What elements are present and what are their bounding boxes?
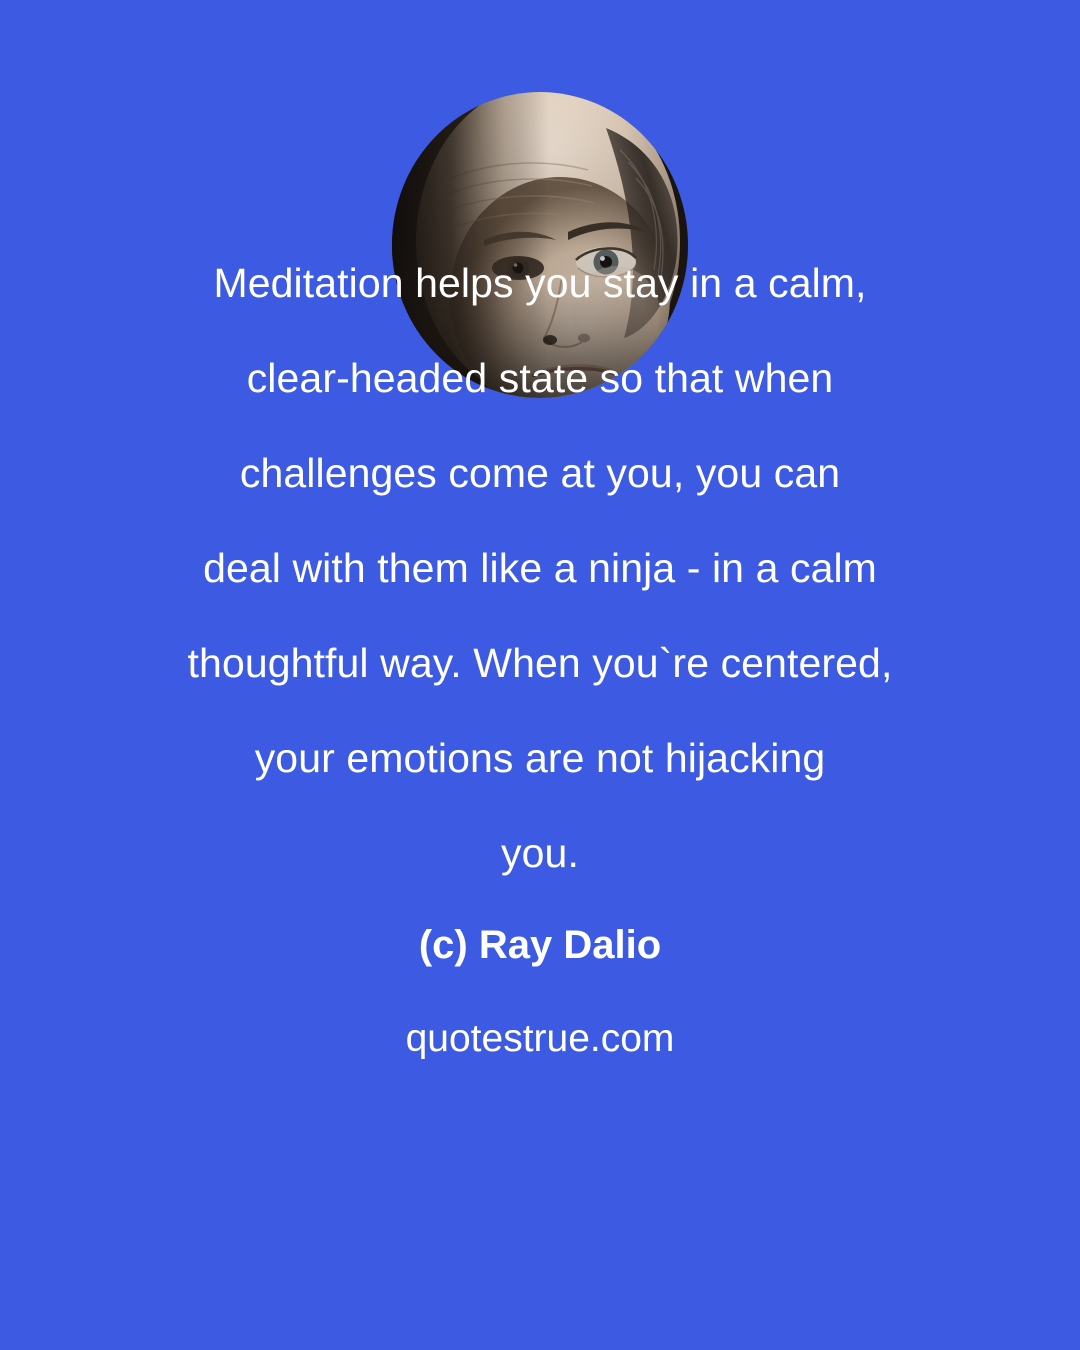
- quote-line: you.: [0, 806, 1080, 901]
- quote-line: your emotions are not hijacking: [0, 711, 1080, 806]
- quote-poster: Meditation helps you stay in a calm, cle…: [0, 0, 1080, 1350]
- quote-author: (c) Ray Dalio: [0, 918, 1080, 972]
- quote-line: Meditation helps you stay in a calm,: [0, 236, 1080, 331]
- quote-line: challenges come at you, you can: [0, 426, 1080, 521]
- source-website: quotestrue.com: [0, 1012, 1080, 1066]
- quote-text: Meditation helps you stay in a calm, cle…: [0, 236, 1080, 901]
- quote-line: thoughtful way. When you`re centered,: [0, 616, 1080, 711]
- quote-line: clear-headed state so that when: [0, 331, 1080, 426]
- quote-line: deal with them like a ninja - in a calm: [0, 521, 1080, 616]
